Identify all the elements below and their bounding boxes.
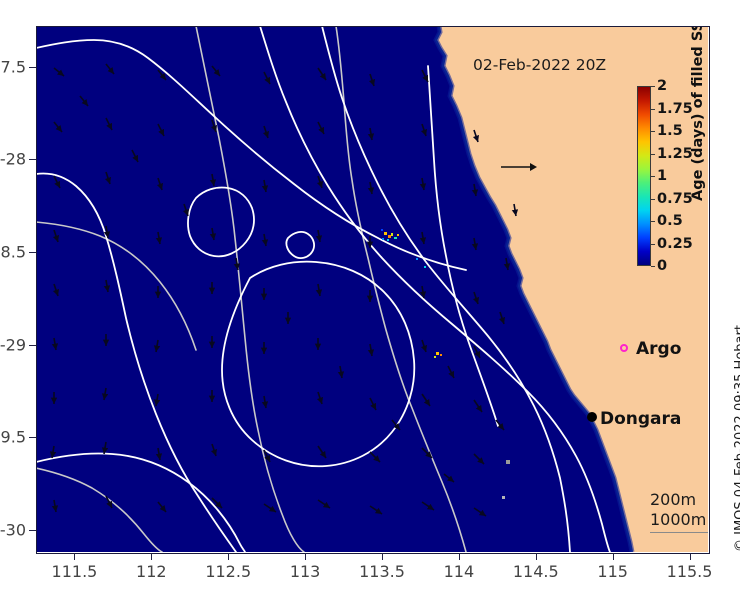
x-tick — [690, 553, 691, 560]
x-tick — [613, 553, 614, 560]
colorbar-gradient — [637, 86, 651, 266]
y-tick-label: -27.5 — [0, 57, 26, 76]
x-tick-label: 115.5 — [667, 562, 713, 581]
colorbar-tick — [651, 199, 655, 200]
x-tick-label: 114.5 — [513, 562, 559, 581]
colorbar-tick-label: 1.5 — [657, 123, 683, 139]
argo-marker-icon[interactable] — [620, 344, 628, 352]
depth-label-shallow: 200m — [650, 490, 706, 510]
colorbar-tick-label: 0.75 — [657, 191, 693, 207]
x-tick — [305, 553, 306, 560]
colorbar-tick — [651, 176, 655, 177]
colorbar-tick-label: 1 — [657, 168, 667, 184]
y-tick — [29, 345, 36, 346]
y-tick — [29, 437, 36, 438]
y-tick-label: -29.5 — [0, 428, 26, 447]
dongara-label: Dongara — [600, 409, 681, 429]
colorbar: 00.250.50.7511.251.51.752 — [637, 86, 651, 266]
y-tick — [29, 530, 36, 531]
depth-contour-labels: 200m 1000m — [650, 490, 706, 530]
depth-contour-rule — [650, 532, 708, 533]
colorbar-tick-label: 2 — [657, 78, 667, 94]
colorbar-tick-label: 0.25 — [657, 236, 693, 252]
argo-label: Argo — [636, 339, 681, 359]
x-tick-label: 113.5 — [359, 562, 405, 581]
y-tick — [29, 67, 36, 68]
x-tick — [151, 553, 152, 560]
right-arrow-icon — [499, 161, 539, 173]
colorbar-tick — [651, 244, 655, 245]
x-tick-label: 115 — [597, 562, 628, 581]
colorbar-tick — [651, 266, 655, 267]
colorbar-tick — [651, 109, 655, 110]
y-tick-label: -28 — [0, 150, 26, 169]
map-plot-area[interactable]: 02-Feb-2022 20Z NRT00 GSL 01-Feb 06:00Z … — [36, 26, 708, 552]
colorbar-tick — [651, 154, 655, 155]
colorbar-tick-label: 1.25 — [657, 146, 693, 162]
x-tick-label: 114 — [444, 562, 475, 581]
y-tick — [29, 252, 36, 253]
figure-root: 02-Feb-2022 20Z NRT00 GSL 01-Feb 06:00Z … — [0, 0, 740, 592]
x-tick — [536, 553, 537, 560]
y-tick-label: -29 — [0, 335, 26, 354]
depth-label-deep: 1000m — [650, 510, 706, 530]
y-tick-label: -28.5 — [0, 242, 26, 261]
colorbar-title: Age (days) of filled SST (wrt latest) — [690, 26, 706, 201]
x-tick-label: 111.5 — [52, 562, 98, 581]
y-tick-label: -30 — [0, 520, 26, 539]
colorbar-tick — [651, 221, 655, 222]
colorbar-tick — [651, 131, 655, 132]
colorbar-tick-label: 0.5 — [657, 213, 683, 229]
x-tick-label: 112 — [136, 562, 167, 581]
x-tick — [459, 553, 460, 560]
date-stamp: 02-Feb-2022 20Z — [473, 56, 606, 74]
dongara-marker-icon[interactable] — [587, 412, 597, 422]
x-tick — [228, 553, 229, 560]
colorbar-tick-label: 1.75 — [657, 101, 693, 117]
x-tick — [74, 553, 75, 560]
colorbar-tick-label: 0 — [657, 258, 667, 274]
x-tick — [382, 553, 383, 560]
sst-age-speckles — [36, 26, 708, 552]
credit-text: © IMOS 04-Feb-2022 09:35 Hobart — [733, 325, 740, 552]
x-tick-label: 112.5 — [205, 562, 251, 581]
x-tick-label: 113 — [290, 562, 321, 581]
y-tick — [29, 159, 36, 160]
colorbar-tick — [651, 86, 655, 87]
